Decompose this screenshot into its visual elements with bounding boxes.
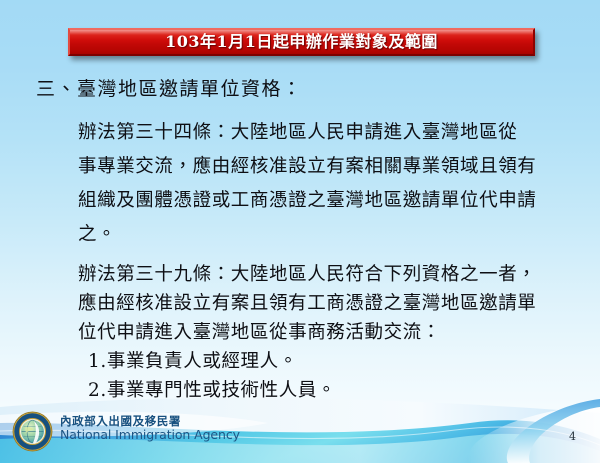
slide-title: 103年1月1日起申辦作業對象及範圍 — [165, 34, 438, 50]
footer-band: 內政部入出國及移民署 National Immigration Agency 4 — [0, 393, 600, 463]
paragraph-line: 辦法第三十四條：大陸地區人民申請進入臺灣地區從 — [78, 116, 578, 150]
paragraph-article-39: 辦法第三十九條：大陸地區人民符合下列資格之一者， 應由經核准設立有案且領有工商憑… — [78, 260, 578, 347]
section-heading: 三、臺灣地區邀請單位資格： — [36, 74, 600, 104]
paragraph-line: 之。 — [78, 218, 578, 252]
paragraph-line: 組織及團體憑證或工商憑證之臺灣地區邀請單位代申請 — [78, 184, 578, 218]
nia-globe-emblem-icon — [12, 411, 53, 452]
paragraph-line: 事專業交流，應由經核准設立有案相關專業領域且領有 — [78, 150, 578, 184]
paragraph-line: 位代申請進入臺灣地區從事商務活動交流： — [78, 318, 578, 347]
organization-name-zh: 內政部入出國及移民署 — [60, 415, 240, 428]
list-item: 1.事業負責人或經理人。 — [88, 347, 600, 376]
slide-body: 三、臺灣地區邀請單位資格： 辦法第三十四條：大陸地區人民申請進入臺灣地區從 事專… — [0, 74, 600, 405]
slide-title-banner: 103年1月1日起申辦作業對象及範圍 — [68, 28, 535, 56]
paragraph-line: 辦法第三十九條：大陸地區人民符合下列資格之一者， — [78, 260, 578, 289]
paragraph-line: 應由經核准設立有案且領有工商憑證之臺灣地區邀請單 — [78, 289, 578, 318]
paragraph-article-34: 辦法第三十四條：大陸地區人民申請進入臺灣地區從 事專業交流，應由經核准設立有案相… — [78, 116, 578, 252]
page-number: 4 — [569, 430, 576, 443]
organization-name: 內政部入出國及移民署 National Immigration Agency — [60, 415, 240, 442]
organization-name-en: National Immigration Agency — [60, 428, 240, 442]
slide-canvas: 103年1月1日起申辦作業對象及範圍 三、臺灣地區邀請單位資格： 辦法第三十四條… — [0, 0, 600, 463]
